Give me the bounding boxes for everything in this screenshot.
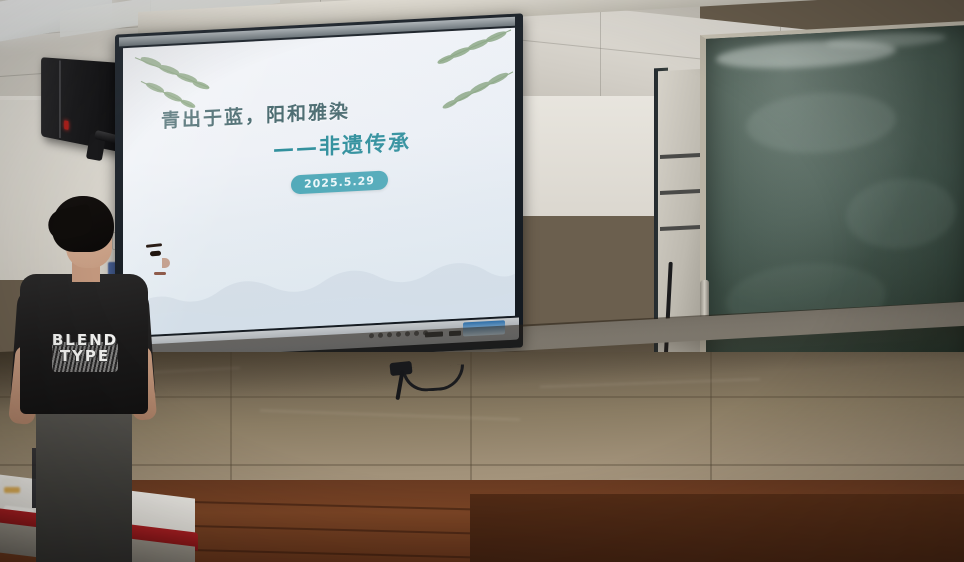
tshirt-text-line2: TYPE [60, 349, 110, 364]
tshirt-graphic: BLEND TYPE [52, 324, 118, 372]
tshirt-text-line1: BLEND [52, 333, 118, 348]
leaf-sprig-icon [410, 28, 515, 134]
person-trousers [36, 408, 132, 562]
slide-title-line2: ——非遗传承 [273, 126, 411, 163]
speaker-led-icon [64, 120, 68, 130]
interactive-smart-display[interactable]: 青出于蓝，阳和雅染 ——非遗传承 2025.5.29 [115, 13, 523, 368]
person-mouth [154, 272, 166, 275]
slide-date-badge: 2025.5.29 [291, 170, 388, 194]
speaker-seam [59, 60, 61, 138]
presenter-person: BLEND TYPE [8, 196, 158, 562]
wood-floor-right [470, 494, 964, 562]
display-screen[interactable]: 青出于蓝，阳和雅染 ——非遗传承 2025.5.29 [123, 28, 515, 337]
classroom-photo-scene: 青出于蓝，阳和雅染 ——非遗传承 2025.5.29 [0, 0, 964, 562]
